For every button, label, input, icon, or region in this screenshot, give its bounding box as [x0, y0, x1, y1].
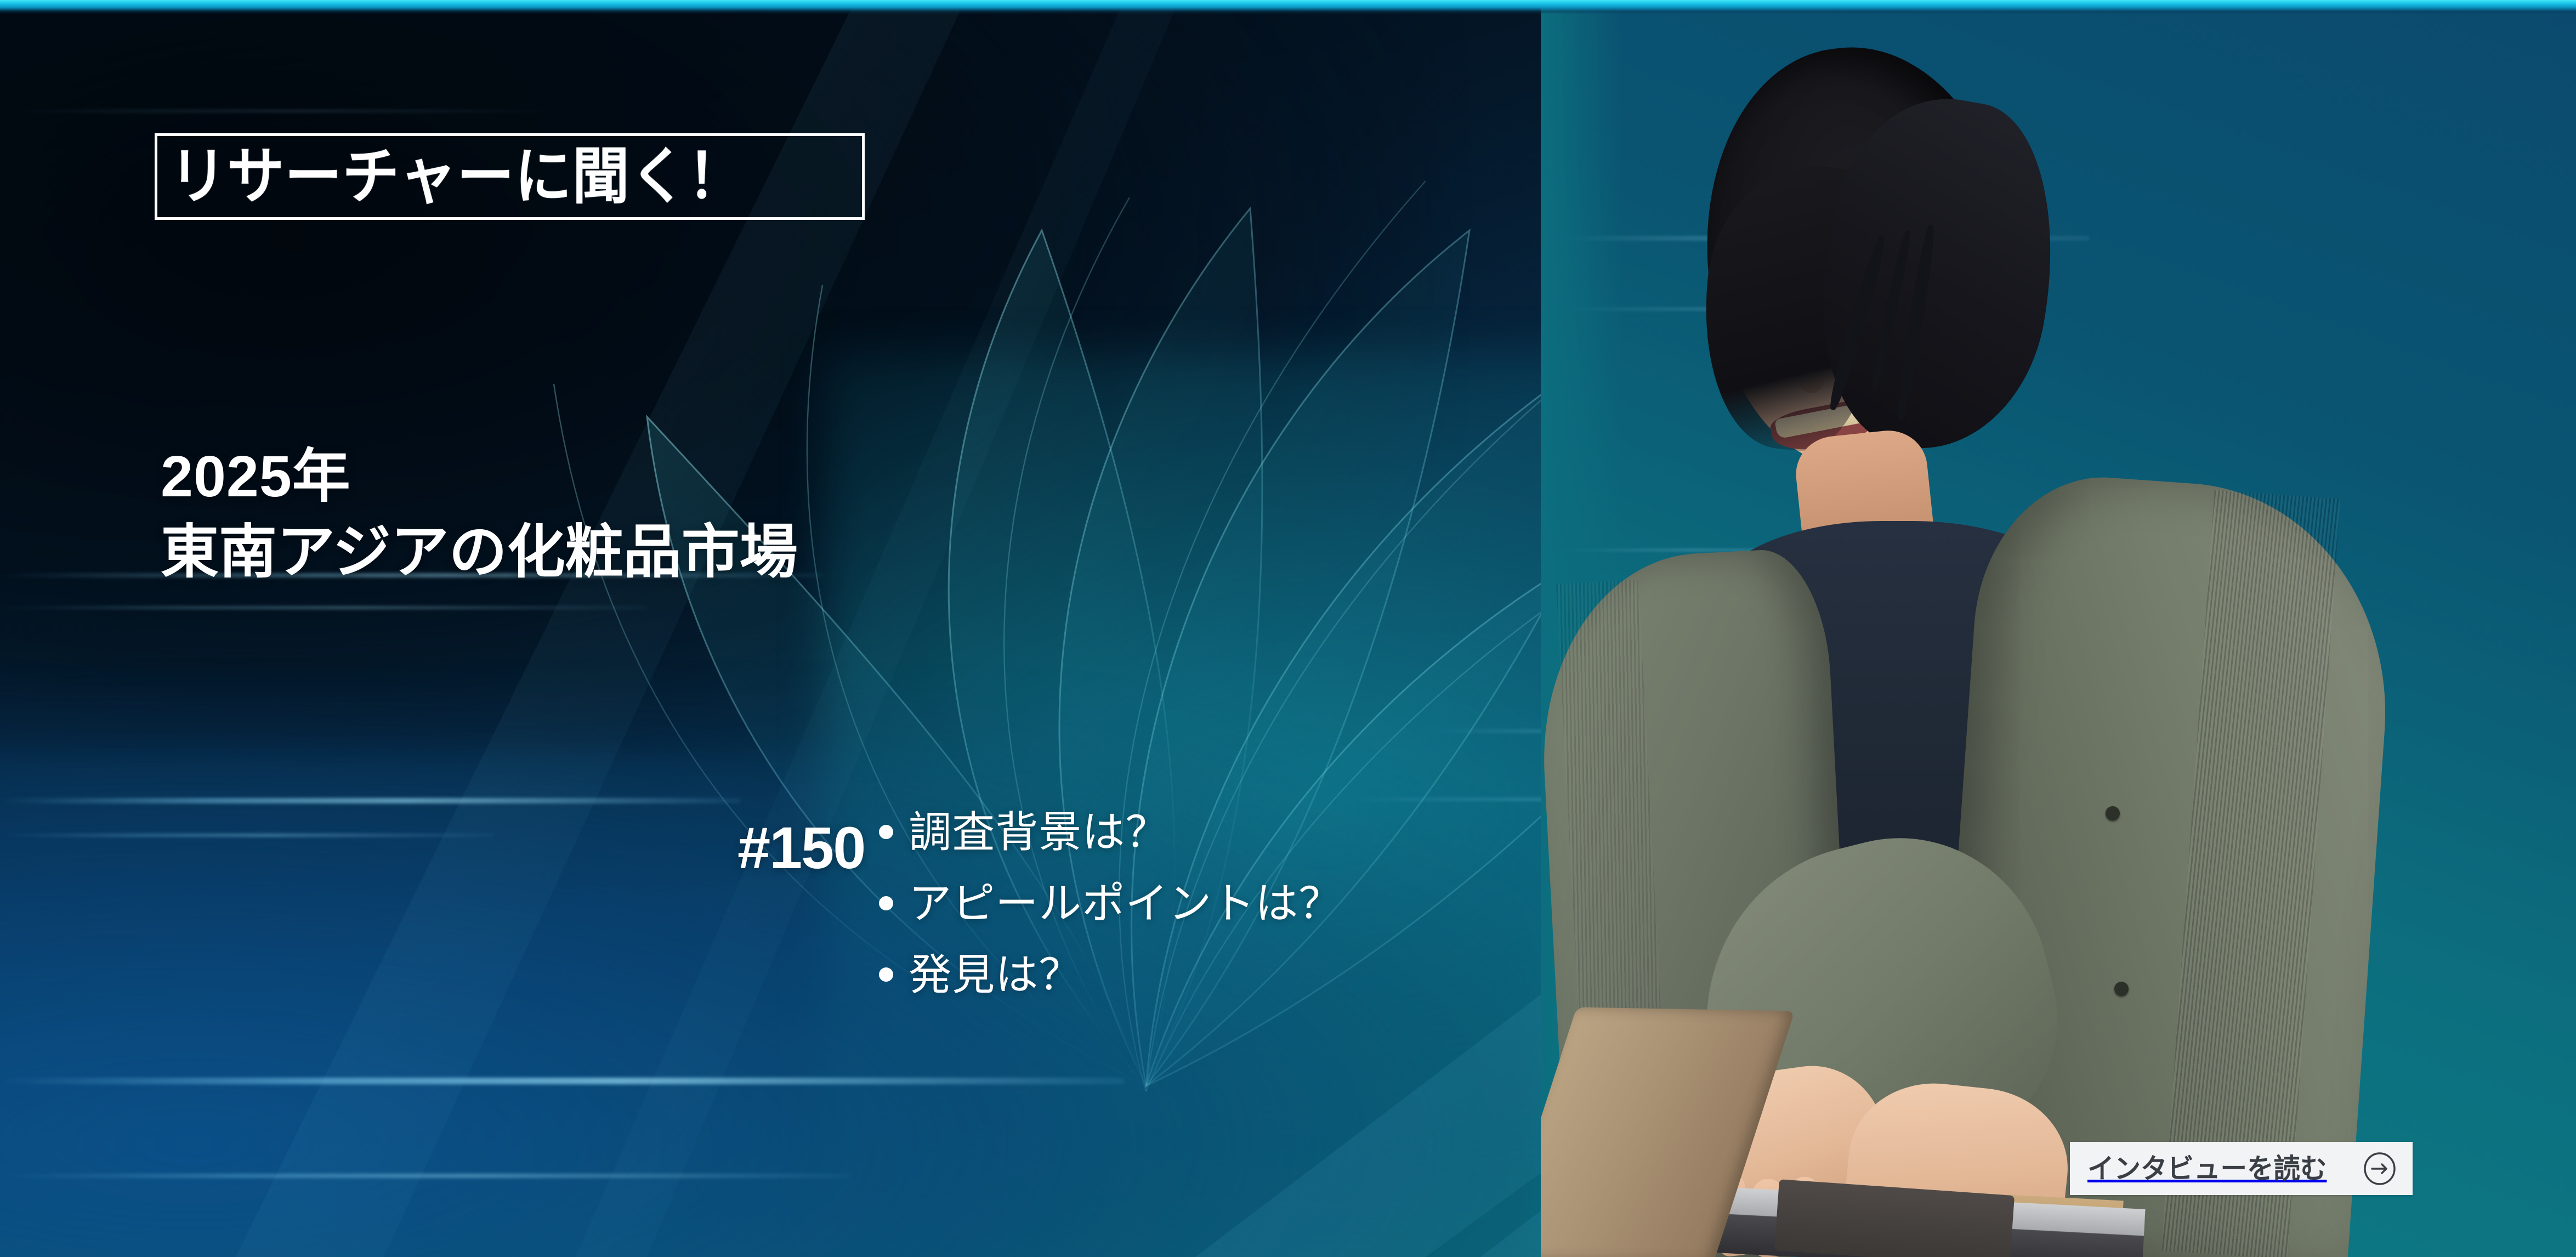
question-text: 調査背景は？ — [909, 811, 1168, 853]
question-list: 調査背景は？ アピールポイントは？ 発見は？ — [879, 811, 1342, 996]
researcher-photo — [1541, 0, 2576, 1257]
cardigan-button — [2114, 982, 2129, 996]
headline-line-1: 2025年 — [161, 444, 351, 509]
question-text: アピールポイントは？ — [909, 882, 1342, 925]
page-title: 2025年 東南アジアの化粧品市場 — [161, 439, 798, 591]
bullet-icon — [879, 825, 893, 839]
series-badge: リサーチャーに聞く！ — [155, 133, 865, 220]
question-text: 発見は？ — [909, 953, 1082, 996]
headline-line-2: 東南アジアの化粧品市場 — [161, 520, 798, 585]
issue-block: #150 調査背景は？ アピールポイントは？ 発見は？ — [737, 811, 1342, 996]
top-accent-bar — [0, 0, 2576, 14]
list-item: 調査背景は？ — [879, 811, 1342, 853]
bullet-icon — [879, 896, 893, 910]
arrow-right-circle-icon — [2363, 1152, 2396, 1185]
bullet-icon — [879, 967, 893, 982]
read-interview-button[interactable]: インタビューを読む — [2070, 1142, 2413, 1195]
list-item: アピールポイントは？ — [879, 882, 1342, 925]
list-item: 発見は？ — [879, 953, 1342, 996]
issue-number: #150 — [737, 818, 865, 877]
banner-hero: リサーチャーに聞く！ 2025年 東南アジアの化粧品市場 #150 調査背景は？… — [0, 0, 2576, 1257]
series-badge-label: リサーチャーに聞く！ — [169, 146, 745, 207]
read-interview-label: インタビューを読む — [2087, 1155, 2327, 1182]
cardigan-button — [2106, 806, 2120, 820]
